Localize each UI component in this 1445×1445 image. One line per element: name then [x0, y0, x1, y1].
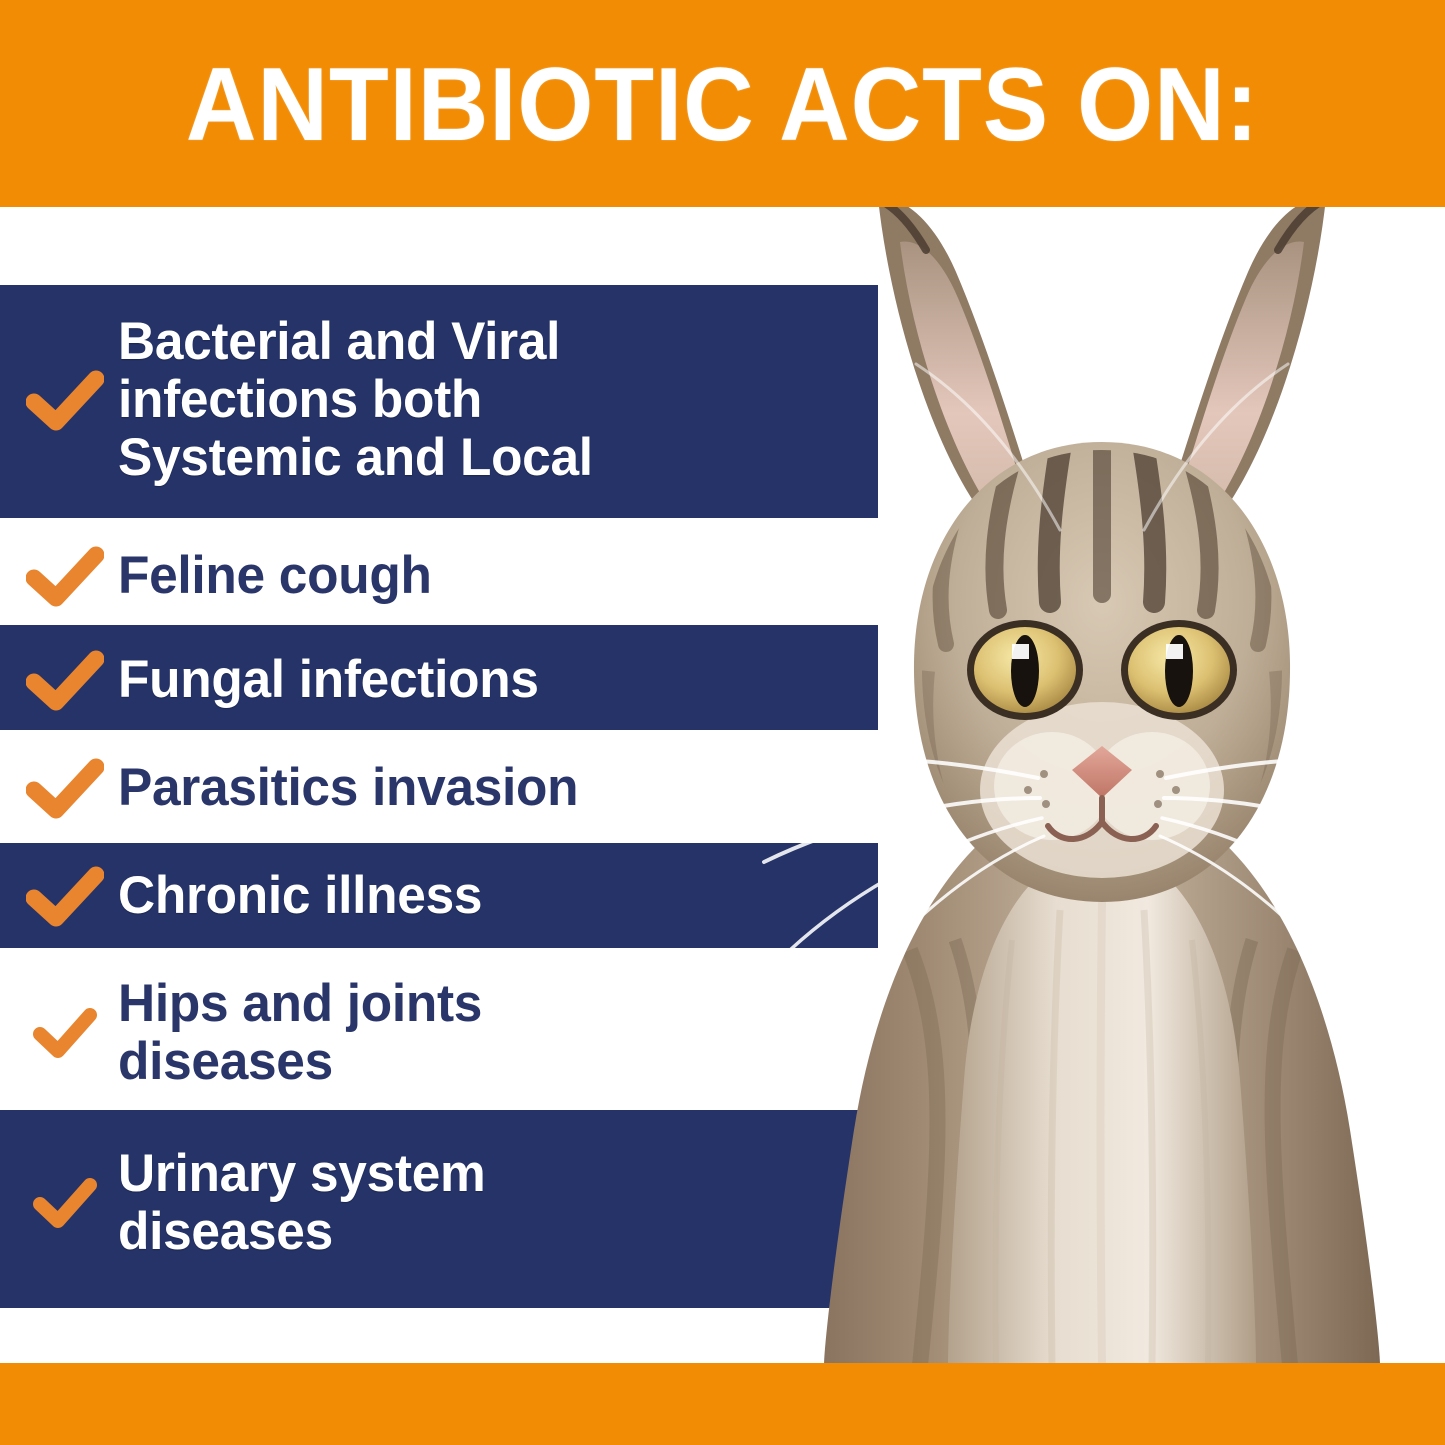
- list-item-label: Fungal infections: [118, 651, 539, 709]
- check-icon: [0, 1177, 118, 1229]
- list-item[interactable]: Feline cough: [0, 528, 441, 624]
- promo-card: ANTIBIOTIC ACTS ON: Bacterial and Viral …: [0, 0, 1445, 1445]
- list-item[interactable]: Chronic illness: [0, 848, 493, 944]
- list-item-label: Urinary system diseases: [118, 1145, 485, 1262]
- list-item[interactable]: Urinary system diseases: [0, 1128, 497, 1278]
- check-icon: [0, 865, 118, 927]
- header-band: ANTIBIOTIC ACTS ON:: [0, 0, 1445, 207]
- check-icon: [0, 369, 118, 431]
- page-title: ANTIBIOTIC ACTS ON:: [43, 0, 1401, 207]
- check-icon: [0, 649, 118, 711]
- list-item[interactable]: Fungal infections: [0, 632, 552, 728]
- check-icon: [0, 757, 118, 819]
- list-item[interactable]: Parasitics invasion: [0, 740, 592, 836]
- list-item-label: Bacterial and Viral infections both Syst…: [118, 313, 593, 488]
- list-item-label: Feline cough: [118, 547, 432, 605]
- list-item-label: Parasitics invasion: [118, 759, 578, 817]
- list-item-label: Hips and joints diseases: [118, 975, 482, 1092]
- list-item[interactable]: Hips and joints diseases: [0, 958, 493, 1108]
- list-item-label: Chronic illness: [118, 867, 482, 925]
- list-item[interactable]: Bacterial and Viral infections both Syst…: [0, 290, 607, 510]
- check-icon: [0, 545, 118, 607]
- footer-band: [0, 1363, 1445, 1445]
- check-icon: [0, 1007, 118, 1059]
